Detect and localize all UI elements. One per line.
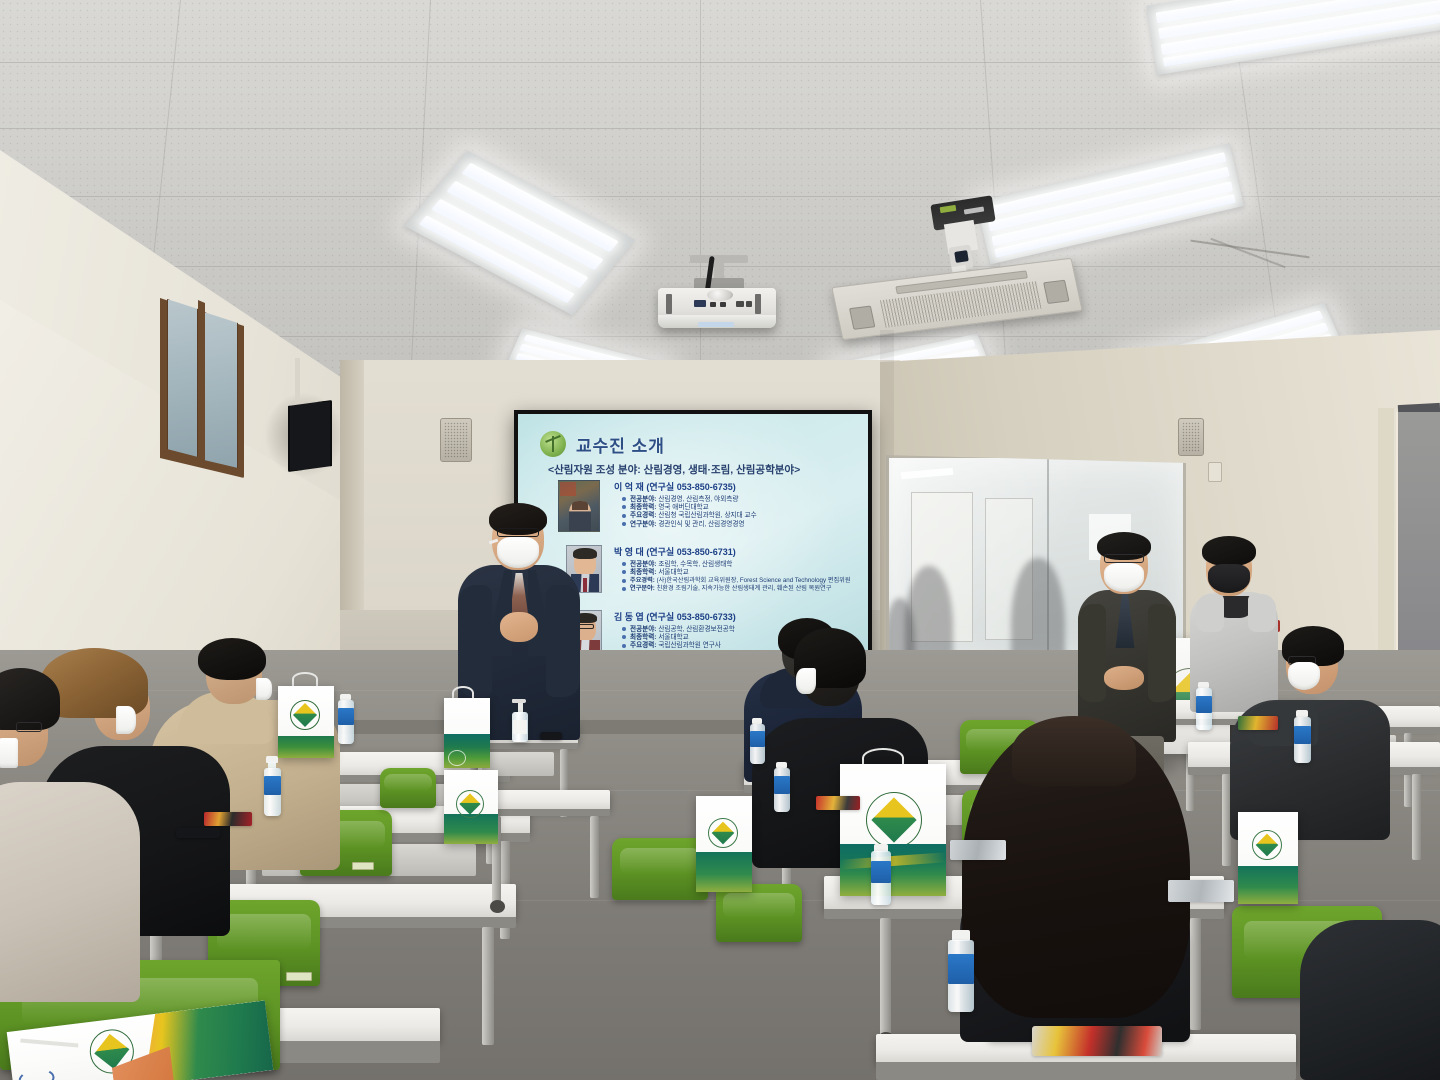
prof2-office-text: (연구실 053-850-6731) — [646, 547, 735, 557]
p2b1-label: 최종학력: — [630, 569, 656, 576]
professor-2-bullets: 전공분야: 조림학, 수목학, 산림생태학 최종학력: 서울대학교 주요경력: … — [622, 561, 851, 593]
professor-1-name: 이 억 재 (연구실 053-850-6735) — [614, 480, 736, 493]
classroom-scene: 교수진 소개 <산림자원 조성 분야: 산림경영, 생태·조림, 산림공학분야>… — [0, 0, 1440, 1080]
professor-1-bullets: 전공분야: 산림경영, 산림측정, 야외측량 최종학력: 영국 애버딘대학교 주… — [622, 496, 757, 529]
p2b3-text: 친환경 조림기술, 지속가능한 산림생태계 관리, 훼손된 산림 복원연구 — [657, 585, 832, 592]
prof1-name-text: 이 억 재 — [614, 482, 644, 492]
brownhair-mask — [116, 706, 136, 734]
p1b1-label: 최종학력: — [630, 504, 656, 511]
p2b0-label: 전공분야: — [630, 561, 656, 568]
prof3-name-text: 김 동 엽 — [614, 612, 644, 622]
staff-arm-right — [1148, 604, 1176, 702]
blackcoat-mask — [796, 668, 816, 694]
tree-logo-icon — [540, 431, 566, 457]
p3b0-text: 산림공학, 산림환경보전공학 — [658, 626, 734, 633]
hoodie-hair — [1202, 536, 1256, 566]
smartphone-on-presenter-desk[interactable] — [540, 732, 562, 740]
hoodie-mask — [1208, 564, 1250, 593]
beige-hair — [198, 638, 266, 680]
p1b2-text: 산림청 국립산림과학원, 상지대 교수 — [658, 512, 756, 519]
smartphone-left-desk[interactable] — [176, 828, 220, 838]
presenter-hands — [500, 612, 538, 642]
tan-mask — [0, 738, 18, 768]
p2b2-text: (사)한국산림과학회 교육위원장, Forest Science and Tec… — [657, 577, 851, 584]
wall-speaker-left — [440, 418, 472, 462]
staff-hands — [1104, 666, 1144, 690]
sanitizer-label — [513, 720, 527, 734]
farright-torso — [1300, 920, 1440, 1080]
hoodie-hood-left — [1196, 594, 1224, 632]
prof2-name-text: 박 영 대 — [614, 547, 644, 557]
staff-arm-left — [1078, 604, 1106, 702]
snack-pack-center[interactable] — [816, 796, 860, 810]
professor-3-name: 김 동 엽 (연구실 053-850-6733) — [614, 610, 736, 623]
puffer-mask — [1288, 662, 1320, 690]
hoodie-hood-right — [1248, 594, 1276, 632]
snack-pack-right[interactable] — [1238, 716, 1278, 730]
presenter-arm-left — [458, 585, 492, 697]
prof3-office-text: (연구실 053-850-6733) — [646, 612, 735, 622]
snack-pack-left-foil[interactable] — [1168, 880, 1234, 902]
p1b2-label: 주요경력: — [630, 512, 656, 519]
p1b0-text: 산림경영, 산림측정, 야외측량 — [658, 496, 738, 503]
tan-torso — [0, 782, 140, 1002]
professor-photo-1 — [558, 480, 600, 532]
p1b0-label: 전공분야: — [630, 496, 656, 503]
p3b0-label: 전공분야: — [630, 626, 656, 633]
snack-pack-left[interactable] — [204, 812, 252, 826]
p2b1-text: 서울대학교 — [658, 569, 688, 576]
staff-glasses — [1104, 554, 1144, 563]
snack-pack-mid-foil[interactable] — [950, 840, 1006, 860]
snack-pack-front[interactable] — [1032, 1026, 1162, 1056]
p1b3-label: 연구분야: — [630, 521, 656, 528]
presenter-mask — [497, 537, 539, 568]
p3b2-label: 주요경력: — [630, 642, 656, 649]
slide-subtitle: <산림자원 조성 분야: 산림경영, 생태·조림, 산림공학분야> — [548, 462, 800, 477]
p2b3-label: 연구분야: — [630, 585, 655, 592]
presenter-glasses — [497, 528, 539, 537]
presenter-arm-right — [546, 585, 580, 697]
tan-glasses — [16, 722, 42, 732]
beige-mask — [256, 678, 272, 700]
p3b1-text: 서울대학교 — [658, 634, 688, 641]
slide-title: 교수진 소개 — [576, 432, 665, 457]
p2b2-label: 주요경력: — [630, 577, 655, 584]
wall-speaker-right — [1178, 418, 1204, 456]
p3b1-label: 최종학력: — [630, 634, 656, 641]
p1b1-text: 영국 애버딘대학교 — [658, 504, 708, 511]
p1b3-text: 경관인식 및 관리, 산림경영경영 — [658, 521, 744, 528]
prof1-office-text: (연구실 053-850-6735) — [646, 482, 735, 492]
p3b2-text: 국립산림과학원 연구사 — [658, 642, 721, 649]
window-jamb-right — [1378, 408, 1394, 678]
wall-outlet-right — [1208, 462, 1222, 482]
woman-hair-crown — [1012, 716, 1136, 786]
p2b0-text: 조림학, 수목학, 산림생태학 — [658, 561, 732, 568]
professor-2-name: 박 영 대 (연구실 053-850-6731) — [614, 545, 736, 558]
staff-mask — [1104, 563, 1144, 592]
